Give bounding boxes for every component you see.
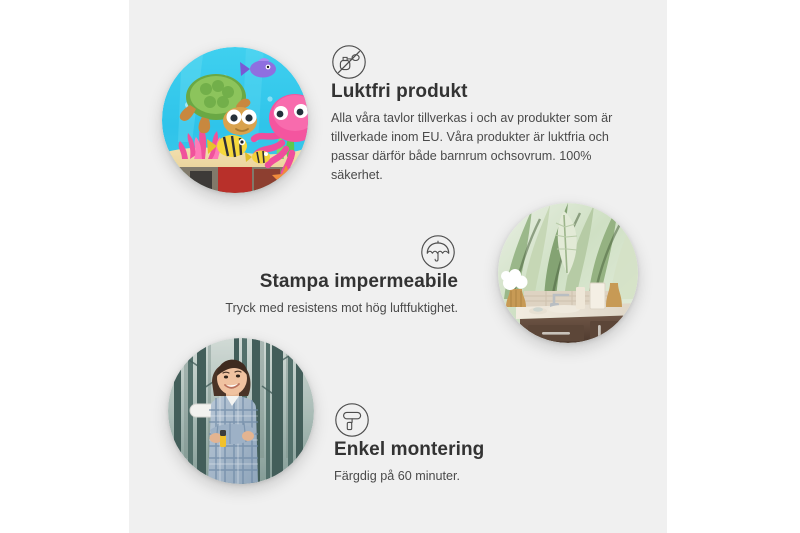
umbrella-icon	[420, 234, 456, 270]
photo-circle-underwater-mural	[162, 47, 308, 193]
feature-body-odorless: Alla våra tavlor tillverkas i och av pro…	[331, 109, 619, 186]
feature-title-easy-mounting: Enkel montering	[334, 438, 584, 462]
feature-body-waterproof: Tryck med resistens mot hög luftfuktighe…	[186, 299, 458, 318]
paint-roller-icon	[334, 402, 370, 438]
photo-circle-bathroom-mural	[498, 203, 638, 343]
feature-title-odorless: Luktfri produkt	[331, 80, 619, 104]
feature-body-easy-mounting: Färgdig på 60 minuter.	[334, 467, 584, 486]
no-fragrance-icon	[331, 44, 367, 80]
feature-block-waterproof: Stampa impermeabile Tryck med resistens …	[186, 270, 458, 318]
promo-banner: Luktfri produkt Alla våra tavlor tillver…	[0, 0, 800, 533]
feature-block-easy-mounting: Enkel montering Färgdig på 60 minuter.	[334, 438, 584, 486]
feature-block-odorless: Luktfri produkt Alla våra tavlor tillver…	[331, 80, 619, 185]
feature-title-waterproof: Stampa impermeabile	[186, 270, 458, 294]
photo-circle-installer	[168, 338, 314, 484]
